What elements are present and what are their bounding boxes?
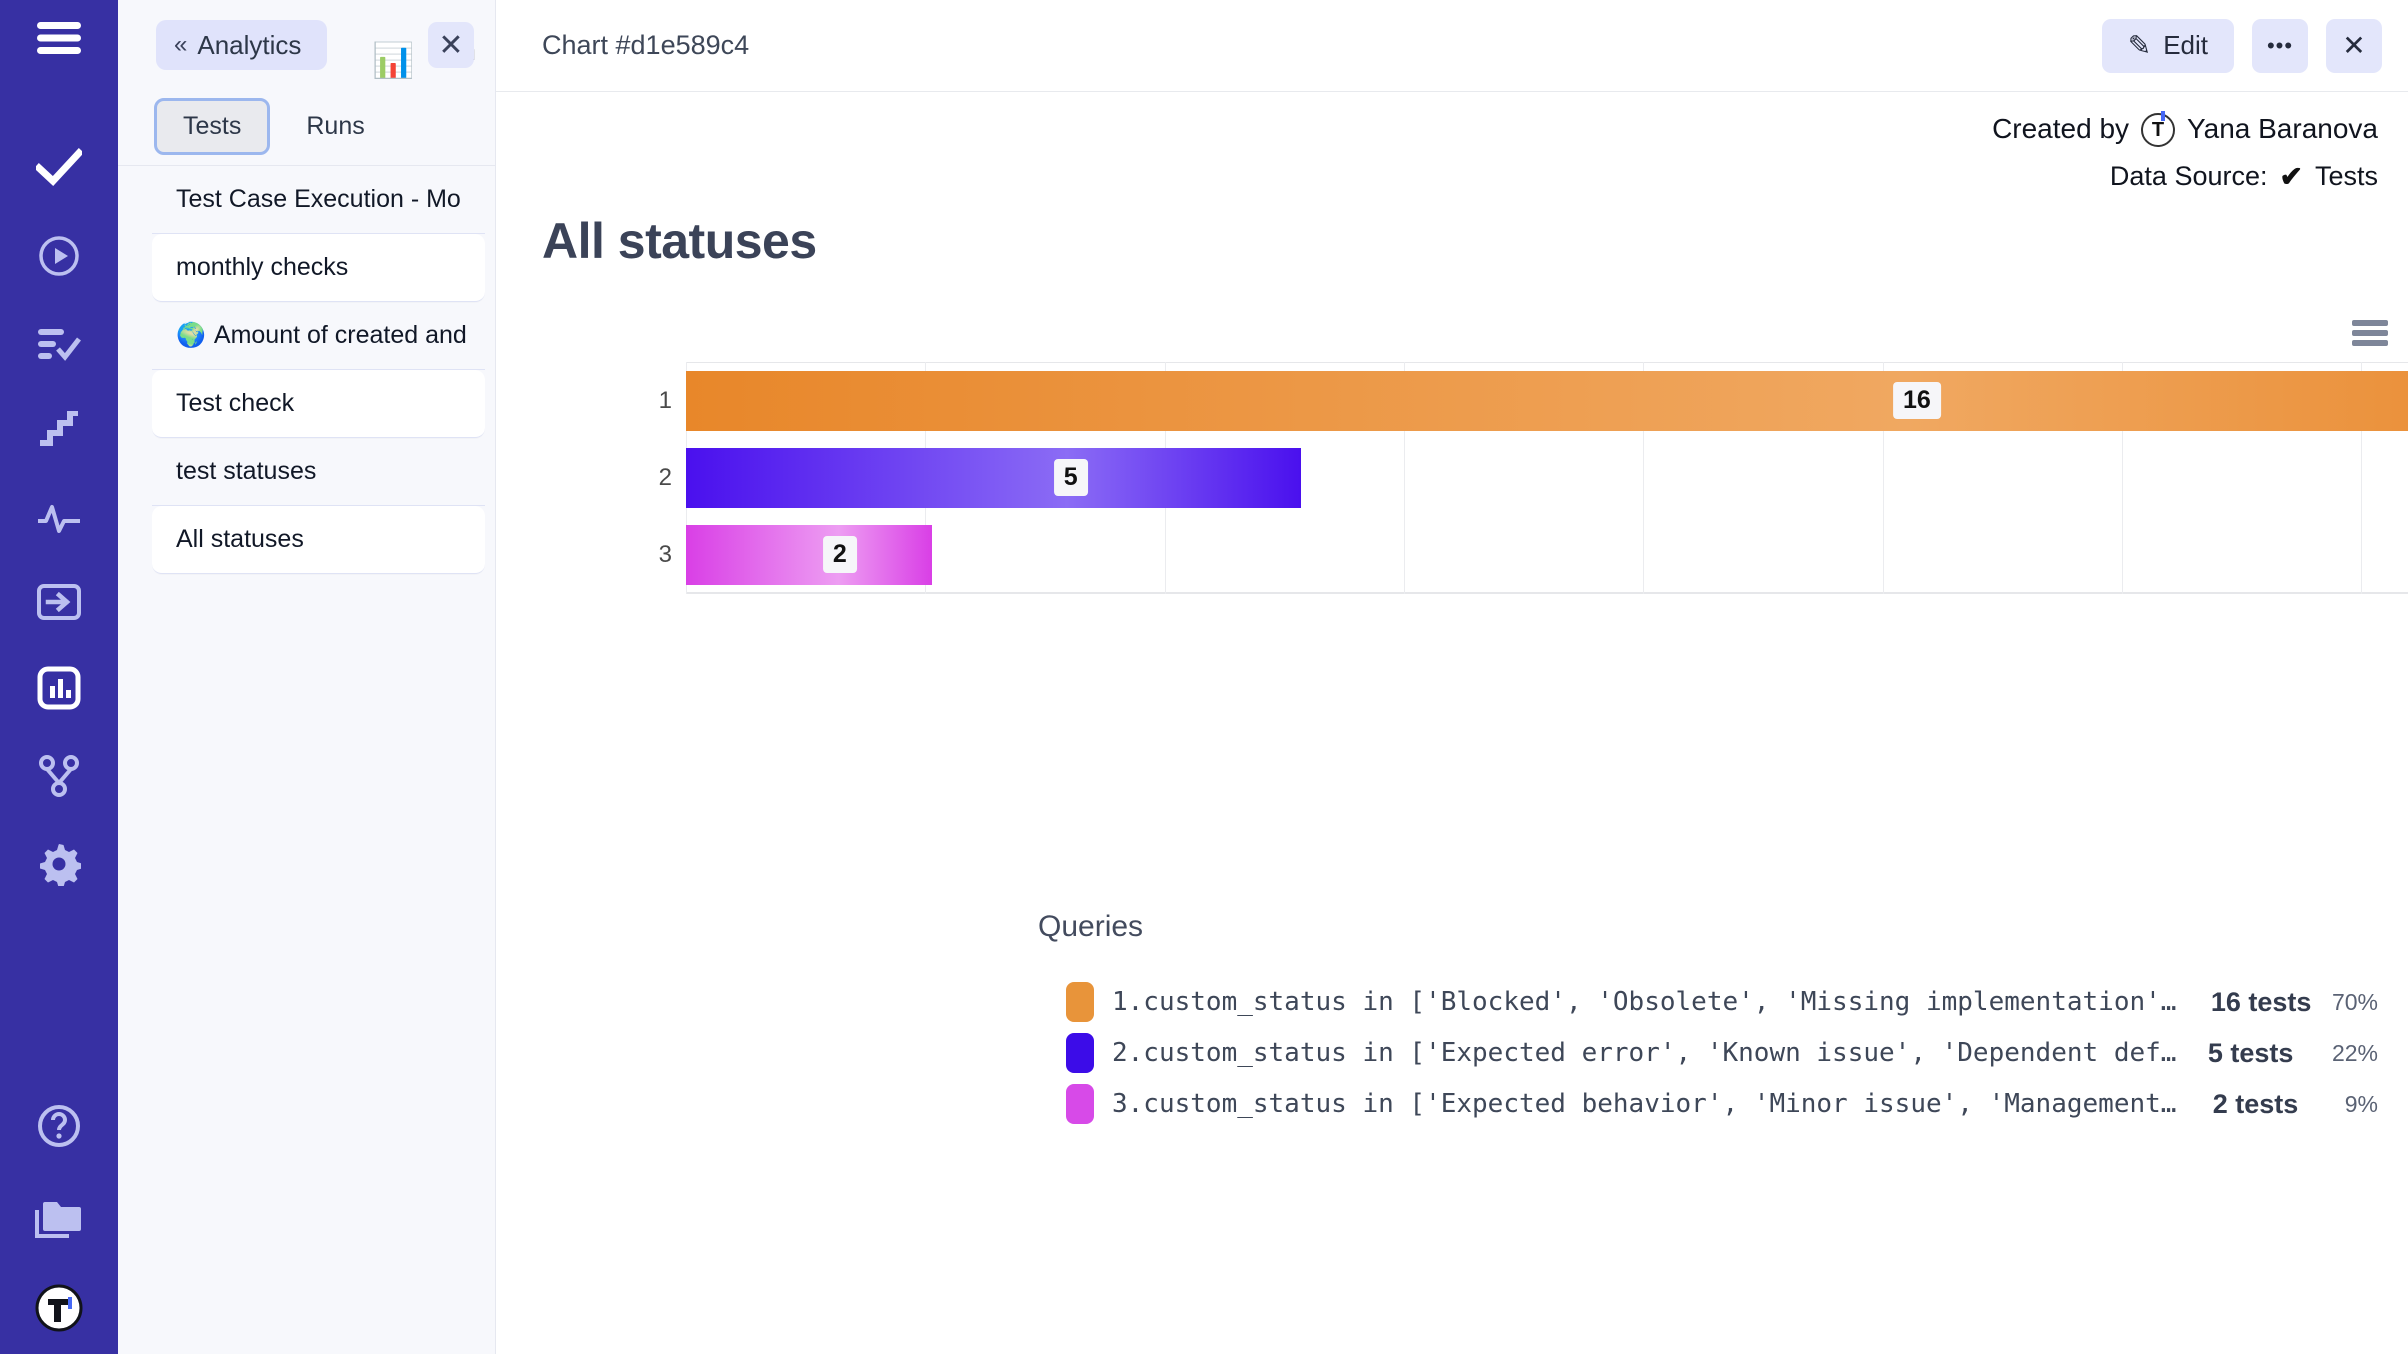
legend-swatch <box>1066 1084 1094 1124</box>
gear-icon[interactable] <box>0 834 118 894</box>
y-axis-tick-label: 2 <box>542 464 672 492</box>
query-count: 16 tests <box>2211 987 2312 1018</box>
main-header: Chart #d1e589c4 ✎ Edit ••• ✕ <box>496 0 2408 92</box>
query-row[interactable]: 1.custom_status in ['Blocked', 'Obsolete… <box>1066 980 2378 1024</box>
close-tab-button[interactable]: ✕ <box>428 22 474 68</box>
checklist-icon[interactable] <box>0 314 118 374</box>
author-avatar-icon: T <box>2141 113 2175 147</box>
list-item[interactable]: Test check <box>152 370 485 438</box>
close-icon: ✕ <box>2342 29 2365 62</box>
bar-row: 116 <box>542 362 2408 439</box>
app-root: « Analytics Tests Runs Test Case Executi… <box>0 0 2408 1354</box>
query-count: 5 tests <box>2208 1038 2294 1069</box>
data-source-row: Data Source: ✔ Tests <box>1992 160 2378 193</box>
pencil-icon: ✎ <box>2128 29 2151 62</box>
edit-button-label: Edit <box>2163 30 2208 61</box>
chevron-left-icon: « <box>174 31 185 59</box>
back-to-analytics-label: Analytics <box>197 30 301 61</box>
query-percent: 22% <box>2311 1040 2378 1067</box>
queries-heading: Queries <box>1038 910 1143 944</box>
bar-value-label: 16 <box>1893 382 1941 419</box>
list-item[interactable]: 🌍 Amount of created and <box>152 302 485 370</box>
close-button[interactable]: ✕ <box>2326 19 2382 73</box>
list-item-label: All statuses <box>176 525 304 554</box>
query-text: 3.custom_status in ['Expected behavior',… <box>1112 1089 2189 1119</box>
data-source-label: Data Source: <box>2110 161 2268 192</box>
more-options-button[interactable]: ••• <box>2252 19 2308 73</box>
edit-button[interactable]: ✎ Edit <box>2102 19 2234 73</box>
list-item-all-statuses[interactable]: All statuses <box>152 506 485 574</box>
check-icon[interactable] <box>0 138 118 198</box>
check-icon: ✔ <box>2280 160 2303 193</box>
query-row[interactable]: 3.custom_status in ['Expected behavior',… <box>1066 1082 2378 1126</box>
user-avatar[interactable] <box>0 1278 118 1338</box>
author-name: Yana Baranova <box>2187 113 2378 145</box>
list-item[interactable]: test statuses <box>152 438 485 506</box>
list-item[interactable]: monthly checks <box>152 234 485 302</box>
help-icon[interactable] <box>0 1096 118 1156</box>
list-item-label: monthly checks <box>176 253 348 282</box>
y-axis-tick-label: 1 <box>542 387 672 415</box>
left-icon-rail <box>0 0 118 1354</box>
tab-tests[interactable]: Tests <box>154 98 270 155</box>
main-content: Chart #d1e589c4 ✎ Edit ••• ✕ Created by … <box>496 0 2408 1354</box>
activity-icon[interactable] <box>0 488 118 548</box>
query-percent: 70% <box>2329 989 2378 1016</box>
branch-icon[interactable] <box>0 746 118 806</box>
chart-title: All statuses <box>542 212 817 270</box>
menu-icon[interactable] <box>0 8 118 68</box>
list-item[interactable]: Test Case Execution - Mo <box>152 166 485 234</box>
bar-row: 25 <box>542 439 2408 516</box>
analytics-panel: « Analytics Tests Runs Test Case Executi… <box>118 0 496 1354</box>
legend-swatch <box>1066 1033 1094 1073</box>
list-item-label: Test Case Execution - Mo <box>176 185 461 214</box>
chart-list: Test Case Execution - Mo monthly checks … <box>118 166 495 574</box>
bar-row: 32 <box>542 517 2408 594</box>
list-item-label: Amount of created and <box>214 321 467 350</box>
avatar-letter: T <box>2152 119 2164 142</box>
bar-value-label: 2 <box>823 536 857 573</box>
list-item-label: test statuses <box>176 457 316 486</box>
header-actions: ✎ Edit ••• ✕ <box>2102 19 2382 73</box>
chart-menu-icon[interactable] <box>2352 320 2388 346</box>
import-icon[interactable] <box>0 572 118 632</box>
bar-chart-plot: 1162532 <box>542 362 2408 594</box>
query-percent: 9% <box>2316 1091 2378 1118</box>
chart-id-title: Chart #d1e589c4 <box>542 30 2102 61</box>
query-row[interactable]: 2.custom_status in ['Expected error', 'K… <box>1066 1031 2378 1075</box>
folder-icon[interactable] <box>0 1188 118 1248</box>
chart-body: Created by T Yana Baranova Data Source: … <box>496 92 2408 1354</box>
y-axis-tick-label: 3 <box>542 541 672 569</box>
panel-tabs: Tests Runs <box>118 88 495 166</box>
globe-icon: 🌍 <box>176 321 206 350</box>
back-to-analytics-button[interactable]: « Analytics <box>156 20 327 70</box>
created-by-label: Created by <box>1992 113 2129 145</box>
stairs-icon[interactable] <box>0 400 118 460</box>
bar-chart-emoji-icon: 📊 <box>372 44 414 78</box>
bar[interactable] <box>686 371 2408 431</box>
created-by-row: Created by T Yana Baranova <box>1992 112 2378 146</box>
query-count: 2 tests <box>2213 1089 2299 1120</box>
bar[interactable] <box>686 525 932 585</box>
ellipsis-icon: ••• <box>2267 33 2293 59</box>
bar-value-label: 5 <box>1054 459 1088 496</box>
query-text: 2.custom_status in ['Expected error', 'K… <box>1112 1038 2184 1068</box>
bar-chart-icon[interactable] <box>0 658 118 718</box>
bar[interactable] <box>686 448 1301 508</box>
legend-swatch <box>1066 982 1094 1022</box>
play-circle-icon[interactable] <box>0 226 118 286</box>
data-source-value: Tests <box>2315 161 2378 192</box>
chart-meta: Created by T Yana Baranova Data Source: … <box>1992 112 2378 207</box>
tab-runs[interactable]: Runs <box>280 101 390 152</box>
query-text: 1.custom_status in ['Blocked', 'Obsolete… <box>1112 987 2187 1017</box>
list-item-label: Test check <box>176 389 294 418</box>
